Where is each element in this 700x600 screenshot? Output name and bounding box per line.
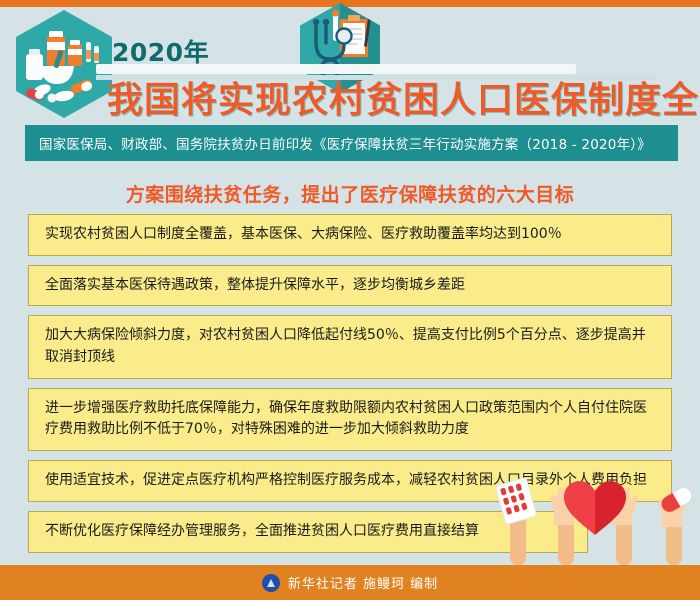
poster-header: 2020年 我国将实现农村贫困人口医保制度全覆盖: [0, 7, 700, 119]
year-label: 2020年: [112, 33, 209, 69]
footer-credit: 新华社记者 施鳗珂 编制: [0, 565, 700, 600]
xinhua-emblem-shape: [267, 579, 275, 587]
hands-heart-graphic: [490, 455, 700, 565]
goal-item: 进一步增强医疗救助托底保障能力，确保年度救助限额内农村贫困人口政策范围内个人自付…: [28, 388, 672, 451]
goal-item: 加大大病保险倾斜力度，对农村贫困人口降低起付线50％、提高支付比例5个百分点、逐…: [28, 315, 672, 378]
infographic-poster: 2020年 我国将实现农村贫困人口医保制度全覆盖 国家医保局、财政部、国务院扶贫…: [0, 0, 700, 600]
source-info-bar: 国家医保局、财政部、国务院扶贫办日前印发《医疗保障扶贫三年行动实施方案（2018…: [25, 125, 678, 161]
goal-item: 全面落实基本医保待遇政策，整体提升保障水平，逐步均衡城乡差距: [28, 265, 672, 307]
top-accent-strip: [0, 0, 700, 7]
footer-credit-text: 新华社记者 施鳗珂 编制: [288, 573, 438, 592]
goal-item: 实现农村贫困人口制度全覆盖，基本医保、大病保险、医疗救助覆盖率均达到100％: [28, 214, 672, 256]
section-heading: 方案围绕扶贫任务，提出了医疗保障扶贫的六大目标: [0, 180, 700, 207]
xinhua-logo-icon: [262, 574, 280, 592]
source-info-text: 国家医保局、财政部、国务院扶贫办日前印发《医疗保障扶贫三年行动实施方案（2018…: [39, 133, 651, 153]
pill-blister-pack-icon: [495, 477, 537, 524]
hands-heart-illustration: [490, 455, 700, 565]
page-title: 我国将实现农村贫困人口医保制度全覆盖: [107, 71, 700, 123]
